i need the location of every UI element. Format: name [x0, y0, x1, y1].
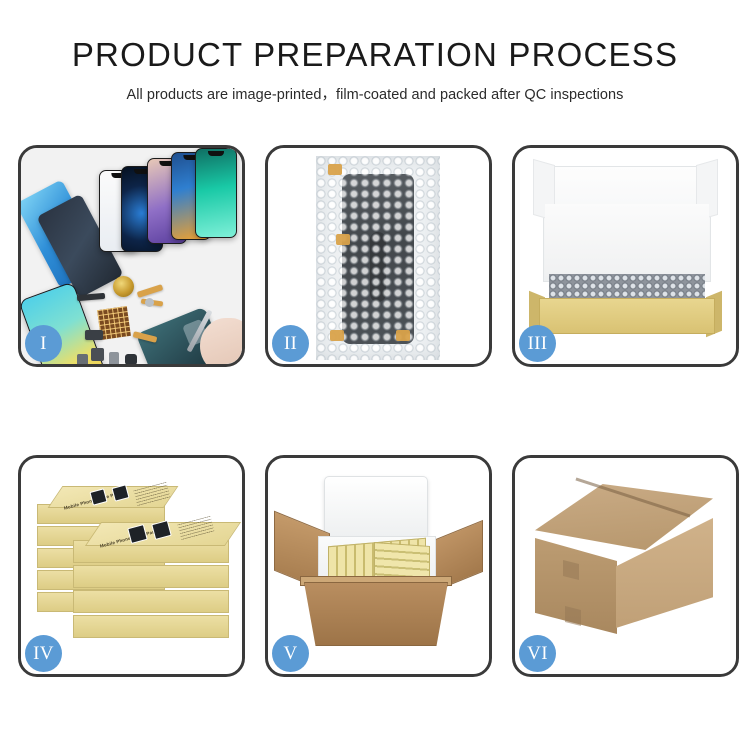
tape-strip-icon: [330, 330, 344, 341]
retail-box-icon: [73, 565, 229, 588]
step-badge-4: IV: [25, 635, 62, 672]
process-step-card-6[interactable]: VI: [512, 455, 739, 677]
carton-front-icon: [304, 582, 448, 646]
process-step-card-4[interactable]: Mobile Phone Spare Parts Mobile Phone Sp…: [18, 455, 245, 677]
screw-icon: [145, 298, 154, 307]
flex-cable-icon: [137, 284, 164, 298]
process-steps-grid: I II III: [18, 145, 740, 677]
kraft-box-front-icon: [539, 298, 715, 334]
flex-cable-icon: [85, 330, 103, 340]
component-part-icon: [125, 354, 137, 364]
process-step-card-3[interactable]: III: [512, 145, 739, 367]
carton-tape-patch-icon: [565, 606, 581, 626]
process-step-card-2[interactable]: II: [265, 145, 492, 367]
flex-cable-icon: [77, 293, 105, 301]
page-subtitle: All products are image-printed，film-coat…: [0, 83, 750, 104]
process-step-card-1[interactable]: I: [18, 145, 245, 367]
step-badge-5: V: [272, 635, 309, 672]
step-badge-1: I: [25, 325, 62, 362]
foam-box-lid-icon: [324, 476, 428, 538]
retail-box-icon: [73, 615, 229, 638]
box-stack-group: Mobile Phone Spare Parts Mobile Phone Sp…: [37, 482, 233, 658]
page-header: PRODUCT PREPARATION PROCESS All products…: [0, 0, 750, 104]
step-badge-2: II: [272, 325, 309, 362]
step-badge-3: III: [519, 325, 556, 362]
foam-sheet-icon: [545, 204, 709, 276]
tape-strip-icon: [328, 164, 342, 175]
page-title: PRODUCT PREPARATION PROCESS: [0, 36, 750, 74]
retail-box-icon: [73, 590, 229, 613]
component-part-icon: [109, 352, 119, 364]
speaker-coil-icon: [113, 276, 134, 297]
tape-strip-icon: [336, 234, 350, 245]
component-part-icon: [77, 354, 88, 364]
step-badge-6: VI: [519, 635, 556, 672]
phone-teal-icon: [195, 148, 237, 238]
process-step-card-5[interactable]: V: [265, 455, 492, 677]
component-part-icon: [91, 348, 104, 361]
wrapped-lcd-screen-icon: [342, 174, 414, 344]
phone-notch-icon: [208, 151, 224, 156]
tape-strip-icon: [396, 330, 410, 341]
